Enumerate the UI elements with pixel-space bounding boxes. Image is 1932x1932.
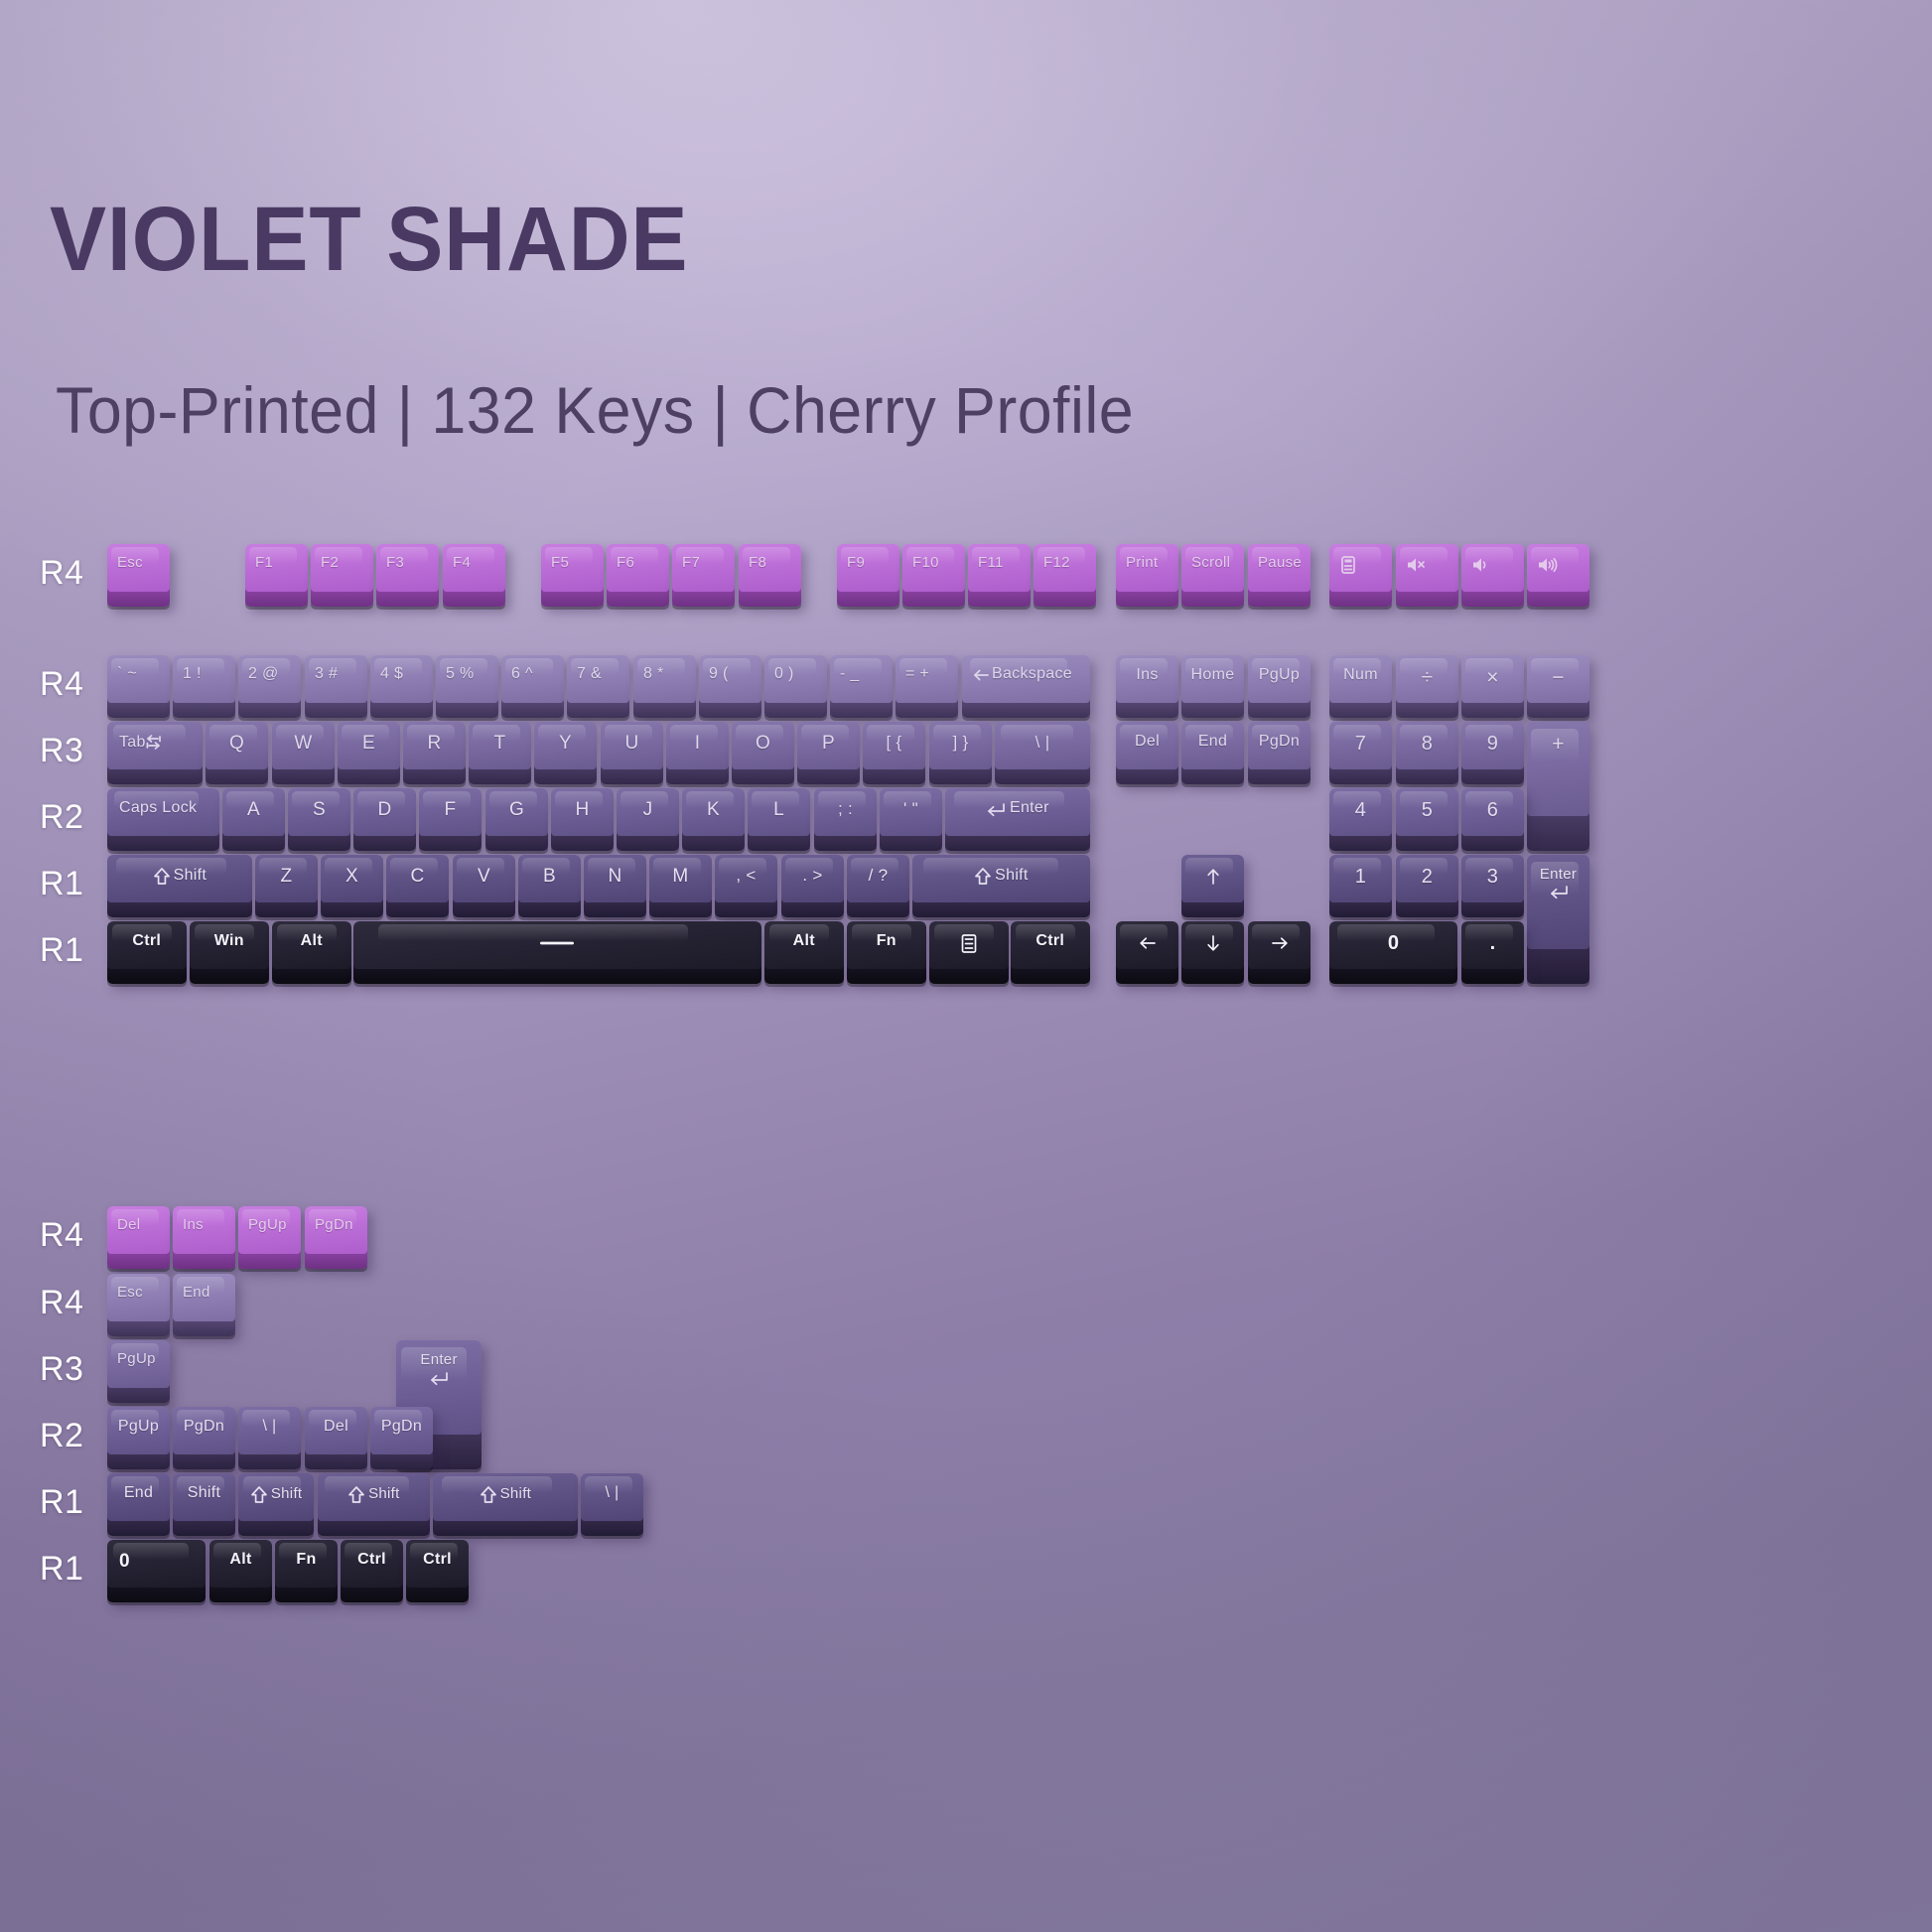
extra-key-pgup-r3[interactable]: PgUp	[107, 1340, 170, 1403]
key-f10[interactable]: F10	[902, 544, 965, 607]
key-legend: 7	[1329, 734, 1392, 754]
key-legend: Shift	[318, 1485, 430, 1505]
key-legend: F2	[321, 555, 339, 570]
key-e[interactable]: E	[338, 722, 400, 784]
key-f11[interactable]: F11	[968, 544, 1031, 607]
key-legend: Ctrl	[1011, 933, 1090, 949]
row-label-main-5: R1	[40, 931, 83, 970]
key-legend: F6	[617, 555, 634, 570]
key-legend: Tab	[119, 734, 162, 753]
key-t[interactable]: T	[469, 722, 531, 784]
key-legend: Alt	[272, 933, 351, 949]
key-legend: Num	[1329, 667, 1392, 683]
key-legend: \ |	[238, 1419, 301, 1435]
key-fn[interactable]: Fn	[847, 921, 926, 984]
key-legend: 9 (	[709, 666, 729, 682]
key-a[interactable]: A	[222, 788, 285, 851]
key-legend: R	[403, 734, 466, 753]
key-arrow-right[interactable]	[1248, 921, 1311, 984]
key-r[interactable]: R	[403, 722, 466, 784]
extra-key-del-r4[interactable]: Del	[107, 1206, 170, 1269]
key-f6[interactable]: F6	[607, 544, 669, 607]
key-esc[interactable]: Esc	[107, 544, 170, 607]
key-legend: 3 #	[315, 666, 338, 682]
key-legend: Caps Lock	[119, 800, 197, 816]
key-w[interactable]: W	[272, 722, 335, 784]
key-legend: Enter	[1527, 867, 1589, 901]
extra-key-pgdn-r4[interactable]: PgDn	[305, 1206, 367, 1269]
up-arrow-icon	[1181, 867, 1244, 888]
key-2[interactable]: 2 @	[238, 655, 301, 718]
key-legend: / ?	[847, 867, 909, 884]
key-3[interactable]: 3 #	[305, 655, 367, 718]
extra-key-esc-r4b[interactable]: Esc	[107, 1274, 170, 1336]
key-f4[interactable]: F4	[443, 544, 505, 607]
key-legend: +	[1527, 734, 1589, 755]
key-key[interactable]: ` ~	[107, 655, 170, 718]
key-legend: PgDn	[173, 1419, 235, 1435]
menu-icon	[929, 933, 1009, 955]
key-d[interactable]: D	[353, 788, 416, 851]
key-legend: N	[584, 867, 646, 886]
key-legend: Q	[206, 734, 268, 753]
extra-key-shift-1[interactable]: Shift	[238, 1473, 314, 1536]
key-legend: E	[338, 734, 400, 753]
key-backslash[interactable]: \ |	[995, 722, 1090, 784]
key-legend: Esc	[117, 555, 143, 570]
key-legend: Pause	[1258, 555, 1302, 570]
key-b[interactable]: B	[518, 855, 581, 917]
key-numpad-7[interactable]: 7	[1329, 722, 1392, 784]
key-legend: 0	[1329, 933, 1457, 953]
key-legend: Fn	[275, 1552, 338, 1568]
key-numpad-1[interactable]: 1	[1329, 855, 1392, 917]
key-legend	[353, 933, 761, 949]
key-right-alt[interactable]: Alt	[764, 921, 844, 984]
key-legend: S	[288, 800, 350, 819]
key-calculator[interactable]	[1329, 544, 1392, 607]
key-legend: Backspace	[972, 666, 1072, 685]
key-numpad-plus[interactable]: +	[1527, 722, 1589, 851]
key-legend: PgUp	[107, 1419, 170, 1435]
key-legend: PgDn	[370, 1419, 433, 1435]
key-caps-lock[interactable]: Caps Lock	[107, 788, 219, 851]
key-legend: - _	[840, 666, 860, 682]
row-label-extra-0: R4	[40, 1216, 83, 1255]
key-7[interactable]: 7 &	[567, 655, 629, 718]
key-left-ctrl[interactable]: Ctrl	[107, 921, 187, 984]
key-numpad-8[interactable]: 8	[1396, 722, 1458, 784]
key-legend: = +	[905, 666, 929, 682]
key-m[interactable]: M	[649, 855, 712, 917]
key-5[interactable]: 5 %	[436, 655, 498, 718]
row-label-extra-5: R1	[40, 1550, 83, 1588]
key-spacebar[interactable]	[353, 921, 761, 984]
key-left-shift[interactable]: Shift	[107, 855, 252, 917]
key-legend: Enter	[396, 1352, 482, 1388]
key-legend: F9	[847, 555, 865, 570]
key-legend: P	[797, 734, 860, 753]
key-numpad-6[interactable]: 6	[1461, 788, 1524, 851]
key-menu[interactable]	[929, 921, 1009, 984]
key-legend: Ins	[183, 1217, 204, 1232]
extra-key-pgdn-r2-1[interactable]: PgDn	[173, 1407, 235, 1469]
key-legend: F10	[912, 555, 939, 570]
left-arrow-icon	[1116, 933, 1178, 954]
key-legend: X	[321, 867, 383, 886]
key-pgdn[interactable]: PgDn	[1248, 722, 1311, 784]
key-legend: Alt	[764, 933, 844, 949]
key-legend: \ |	[995, 734, 1090, 751]
key-legend: Shift	[433, 1485, 578, 1505]
key-g[interactable]: G	[485, 788, 548, 851]
keycap-skirt	[1527, 812, 1589, 851]
key-legend: 8 *	[643, 666, 663, 682]
volume-up-icon	[1537, 555, 1559, 576]
key-q[interactable]: Q	[206, 722, 268, 784]
key-numpad-key[interactable]: ÷	[1396, 655, 1458, 718]
right-arrow-icon	[1248, 933, 1311, 954]
key-legend: ' "	[880, 800, 942, 817]
key-tab[interactable]: Tab	[107, 722, 203, 784]
extra-key-end-r4b[interactable]: End	[173, 1274, 235, 1336]
key-key[interactable]: [ {	[863, 722, 925, 784]
key-legend: 0	[119, 1552, 130, 1571]
key-numpad-3[interactable]: 3	[1461, 855, 1524, 917]
key-numpad-num[interactable]: Num	[1329, 655, 1392, 718]
key-legend: J	[617, 800, 679, 819]
extra-key-fn-2[interactable]: Fn	[275, 1540, 338, 1602]
key-pause[interactable]: Pause	[1248, 544, 1311, 607]
key-legend: \ |	[581, 1485, 643, 1501]
extra-key-pgup-r4[interactable]: PgUp	[238, 1206, 301, 1269]
key-mute[interactable]	[1396, 544, 1458, 607]
extra-key-shift-plain[interactable]: Shift	[173, 1473, 235, 1536]
key-legend: Fn	[847, 933, 926, 949]
key-legend: 5 %	[446, 666, 474, 682]
key-numpad-dot[interactable]: .	[1461, 921, 1524, 984]
key-p[interactable]: P	[797, 722, 860, 784]
key-enter[interactable]: Enter	[945, 788, 1090, 851]
key-1[interactable]: 1 !	[173, 655, 235, 718]
extra-key-del-r2-3[interactable]: Del	[305, 1407, 367, 1469]
key-legend: 4 $	[380, 666, 403, 682]
key-legend: F11	[978, 555, 1004, 570]
key-arrow-up[interactable]	[1181, 855, 1244, 917]
key-f12[interactable]: F12	[1034, 544, 1096, 607]
key-legend: T	[469, 734, 531, 753]
key-legend: A	[222, 800, 285, 819]
key-key[interactable]: . >	[781, 855, 844, 917]
extra-key-ctrl-4[interactable]: Ctrl	[406, 1540, 469, 1602]
key-n[interactable]: N	[584, 855, 646, 917]
key-legend: Scroll	[1191, 555, 1230, 570]
key-h[interactable]: H	[551, 788, 614, 851]
key-legend: Alt	[209, 1552, 272, 1568]
key-legend: L	[748, 800, 810, 819]
key-legend: 4	[1329, 800, 1392, 820]
key-key[interactable]: ] }	[929, 722, 992, 784]
key-legend: PgUp	[1248, 667, 1311, 683]
key-legend: ` ~	[117, 666, 137, 682]
key-legend: End	[1181, 734, 1244, 750]
key-legend: K	[682, 800, 745, 819]
row-label-extra-2: R3	[40, 1350, 83, 1389]
key-legend: Home	[1181, 667, 1244, 683]
key-legend: 6 ^	[511, 666, 533, 682]
key-f1[interactable]: F1	[245, 544, 308, 607]
key-u[interactable]: U	[601, 722, 663, 784]
down-arrow-icon	[1181, 933, 1244, 954]
key-legend: 9	[1461, 734, 1524, 754]
key-legend: O	[732, 734, 794, 753]
key-arrow-down[interactable]	[1181, 921, 1244, 984]
key-legend: W	[272, 734, 335, 753]
key-8[interactable]: 8 *	[633, 655, 696, 718]
key-legend: F	[419, 800, 482, 819]
key-legend: G	[485, 800, 548, 819]
extra-key-ins-r4[interactable]: Ins	[173, 1206, 235, 1269]
key-key[interactable]: ; :	[814, 788, 877, 851]
key-numpad-5[interactable]: 5	[1396, 788, 1458, 851]
key-legend: Shift	[107, 867, 252, 888]
key-numpad-4[interactable]: 4	[1329, 788, 1392, 851]
key-legend: End	[107, 1485, 170, 1501]
key-ins[interactable]: Ins	[1116, 655, 1178, 718]
key-numpad-9[interactable]: 9	[1461, 722, 1524, 784]
key-legend: Esc	[117, 1285, 143, 1300]
extra-key-pgdn-r2-4[interactable]: PgDn	[370, 1407, 433, 1469]
key-key[interactable]: - _	[830, 655, 893, 718]
key-legend: Enter	[945, 800, 1090, 820]
key-legend: F1	[255, 555, 273, 570]
key-volume-down[interactable]	[1461, 544, 1524, 607]
key-right-ctrl[interactable]: Ctrl	[1011, 921, 1090, 984]
extra-key-pgup-r2-0[interactable]: PgUp	[107, 1407, 170, 1469]
key-f3[interactable]: F3	[376, 544, 439, 607]
key-6[interactable]: 6 ^	[501, 655, 564, 718]
key-legend: Del	[305, 1419, 367, 1435]
extra-key-alt-1[interactable]: Alt	[209, 1540, 272, 1602]
extra-key-shift-2[interactable]: Shift	[318, 1473, 430, 1536]
key-i[interactable]: I	[666, 722, 729, 784]
row-label-main-3: R2	[40, 798, 83, 837]
key-9[interactable]: 9 (	[699, 655, 761, 718]
row-label-extra-4: R1	[40, 1483, 83, 1522]
row-label-extra-1: R4	[40, 1284, 83, 1322]
key-legend: F8	[749, 555, 766, 570]
key-legend: , <	[715, 867, 777, 884]
key-k[interactable]: K	[682, 788, 745, 851]
key-numpad-0[interactable]: 0	[1329, 921, 1457, 984]
key-arrow-left[interactable]	[1116, 921, 1178, 984]
key-legend: F4	[453, 555, 471, 570]
extra-key-key-r2-2[interactable]: \ |	[238, 1407, 301, 1469]
key-scroll[interactable]: Scroll	[1181, 544, 1244, 607]
key-legend: ; :	[814, 800, 877, 817]
key-legend: M	[649, 867, 712, 886]
row-label-main-2: R3	[40, 732, 83, 770]
key-numpad-key[interactable]: −	[1527, 655, 1589, 718]
key-legend: 2	[1396, 867, 1458, 887]
key-legend: F7	[682, 555, 700, 570]
mute-icon	[1406, 555, 1426, 576]
key-legend: End	[183, 1285, 210, 1300]
key-legend: 2 @	[248, 666, 279, 682]
key-legend: Win	[190, 933, 269, 949]
extra-key-end-r1[interactable]: End	[107, 1473, 170, 1536]
key-f5[interactable]: F5	[541, 544, 604, 607]
key-f2[interactable]: F2	[311, 544, 373, 607]
key-legend: F5	[551, 555, 569, 570]
key-legend: 8	[1396, 734, 1458, 754]
key-legend: Shift	[173, 1485, 235, 1501]
key-del[interactable]: Del	[1116, 722, 1178, 784]
extra-key-shift-3[interactable]: Shift	[433, 1473, 578, 1536]
key-legend: C	[386, 867, 449, 886]
key-legend: Shift	[912, 867, 1090, 888]
key-z[interactable]: Z	[255, 855, 318, 917]
key-numpad-2[interactable]: 2	[1396, 855, 1458, 917]
key-legend: 5	[1396, 800, 1458, 820]
key-f7[interactable]: F7	[672, 544, 735, 607]
key-legend: Ins	[1116, 667, 1178, 683]
key-legend: 1 !	[183, 666, 202, 682]
extra-keycap-layout: DelInsPgUpPgDnEscEndPgUpEnterPgUpPgDn\ |…	[0, 0, 894, 496]
row-label-main-0: R4	[40, 554, 83, 593]
key-o[interactable]: O	[732, 722, 794, 784]
key-legend: PgUp	[248, 1217, 287, 1232]
key-legend: F3	[386, 555, 404, 570]
key-legend: PgDn	[315, 1217, 353, 1232]
key-legend: 3	[1461, 867, 1524, 887]
key-key[interactable]: , <	[715, 855, 777, 917]
key-legend: Z	[255, 867, 318, 886]
extra-key-backslash-r1[interactable]: \ |	[581, 1473, 643, 1536]
key-f8[interactable]: F8	[739, 544, 801, 607]
key-0[interactable]: 0 )	[764, 655, 827, 718]
key-win[interactable]: Win	[190, 921, 269, 984]
key-s[interactable]: S	[288, 788, 350, 851]
row-label-main-1: R4	[40, 665, 83, 704]
key-legend: 6	[1461, 800, 1524, 820]
key-legend: Y	[534, 734, 597, 753]
key-legend: Del	[1116, 734, 1178, 750]
key-l[interactable]: L	[748, 788, 810, 851]
key-legend: −	[1527, 667, 1589, 688]
key-numpad-enter[interactable]: Enter	[1527, 855, 1589, 984]
key-key[interactable]: / ?	[847, 855, 909, 917]
row-label-main-4: R1	[40, 865, 83, 903]
key-numpad-key[interactable]: ×	[1461, 655, 1524, 718]
key-legend: V	[453, 867, 515, 886]
key-legend: . >	[781, 867, 844, 884]
key-end[interactable]: End	[1181, 722, 1244, 784]
key-legend: .	[1461, 933, 1524, 953]
key-legend: H	[551, 800, 614, 819]
key-legend: 1	[1329, 867, 1392, 887]
key-legend: 0 )	[774, 666, 794, 682]
extra-key-0-0[interactable]: 0	[107, 1540, 206, 1602]
key-legend: U	[601, 734, 663, 753]
key-legend: ×	[1461, 667, 1524, 688]
key-key[interactable]: ' "	[880, 788, 942, 851]
key-key[interactable]: = +	[896, 655, 958, 718]
key-c[interactable]: C	[386, 855, 449, 917]
extra-key-ctrl-3[interactable]: Ctrl	[341, 1540, 403, 1602]
key-legend: ÷	[1396, 667, 1458, 688]
key-home[interactable]: Home	[1181, 655, 1244, 718]
key-x[interactable]: X	[321, 855, 383, 917]
key-y[interactable]: Y	[534, 722, 597, 784]
key-legend: D	[353, 800, 416, 819]
volume-down-icon	[1471, 555, 1489, 576]
key-legend: Shift	[238, 1485, 314, 1505]
key-pgup[interactable]: PgUp	[1248, 655, 1311, 718]
key-f9[interactable]: F9	[837, 544, 899, 607]
key-f[interactable]: F	[419, 788, 482, 851]
key-print[interactable]: Print	[1116, 544, 1178, 607]
key-j[interactable]: J	[617, 788, 679, 851]
key-legend: Ctrl	[107, 933, 187, 949]
key-legend: PgDn	[1248, 734, 1311, 750]
keycap-skirt	[1527, 945, 1589, 984]
key-legend: B	[518, 867, 581, 886]
key-4[interactable]: 4 $	[370, 655, 433, 718]
key-legend: Ctrl	[406, 1552, 469, 1568]
key-legend: PgUp	[117, 1351, 156, 1366]
key-legend: 7 &	[577, 666, 602, 682]
key-legend: Print	[1126, 555, 1158, 570]
key-legend: Del	[117, 1217, 140, 1232]
key-left-alt[interactable]: Alt	[272, 921, 351, 984]
row-label-extra-3: R2	[40, 1417, 83, 1455]
key-legend: I	[666, 734, 729, 753]
key-right-shift[interactable]: Shift	[912, 855, 1090, 917]
key-legend: F12	[1043, 555, 1070, 570]
key-legend: [ {	[863, 734, 925, 751]
key-volume-up[interactable]	[1527, 544, 1589, 607]
key-legend: Ctrl	[341, 1552, 403, 1568]
key-v[interactable]: V	[453, 855, 515, 917]
key-legend: ] }	[929, 734, 992, 751]
calculator-icon	[1339, 555, 1357, 576]
key-backspace[interactable]: Backspace	[962, 655, 1090, 718]
